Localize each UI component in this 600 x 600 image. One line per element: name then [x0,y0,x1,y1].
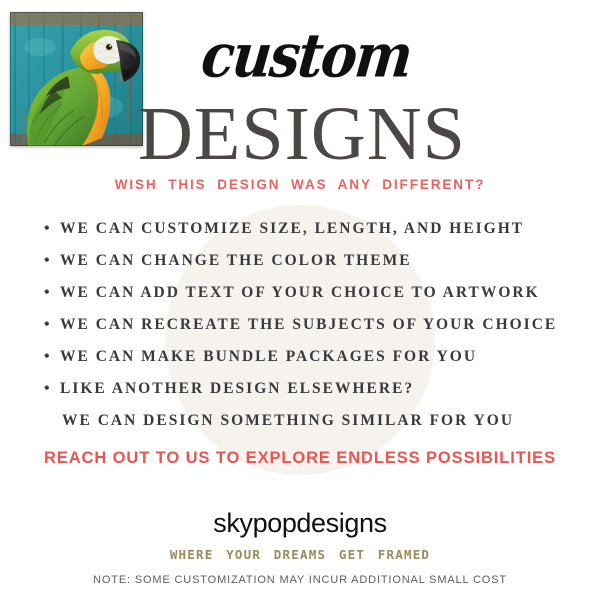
list-item: WE CAN CHANGE THE COLOR THEME [0,245,600,277]
list-item: WE CAN CUSTOMIZE SIZE, LENGTH, AND HEIGH… [0,213,600,245]
footnote-note: NOTE: SOME CUSTOMIZATION MAY INCUR ADDIT… [0,574,600,586]
custom-script-text: custom [186,25,413,85]
list-item: WE CAN RECREATE THE SUBJECTS OF YOUR CHO… [0,309,600,341]
designs-title-text: DESIGNS [138,92,466,176]
page-title: DESIGNS [0,96,600,172]
brand-name: skypopdesigns [0,508,600,539]
list-item: WE CAN MAKE BUNDLE PACKAGES FOR YOU [0,341,600,373]
call-to-action-text: REACH OUT TO US TO EXPLORE ENDLESS POSSI… [0,449,600,468]
subtitle-question: WISH THIS DESIGN WAS ANY DIFFERENT? [0,177,600,192]
custom-script-heading: custom [0,28,600,82]
list-item-continuation: WE CAN DESIGN SOMETHING SIMILAR FOR YOU [0,405,600,437]
list-item: WE CAN ADD TEXT OF YOUR CHOICE TO ARTWOR… [0,277,600,309]
benefits-list: WE CAN CUSTOMIZE SIZE, LENGTH, AND HEIGH… [0,213,600,437]
list-item: LIKE ANOTHER DESIGN ELSEWHERE? [0,373,600,405]
brand-tagline: WHERE YOUR DREAMS GET FRAMED [0,547,600,562]
custom-designs-poster: custom DESIGNS WISH THIS DESIGN WAS ANY … [0,0,600,600]
